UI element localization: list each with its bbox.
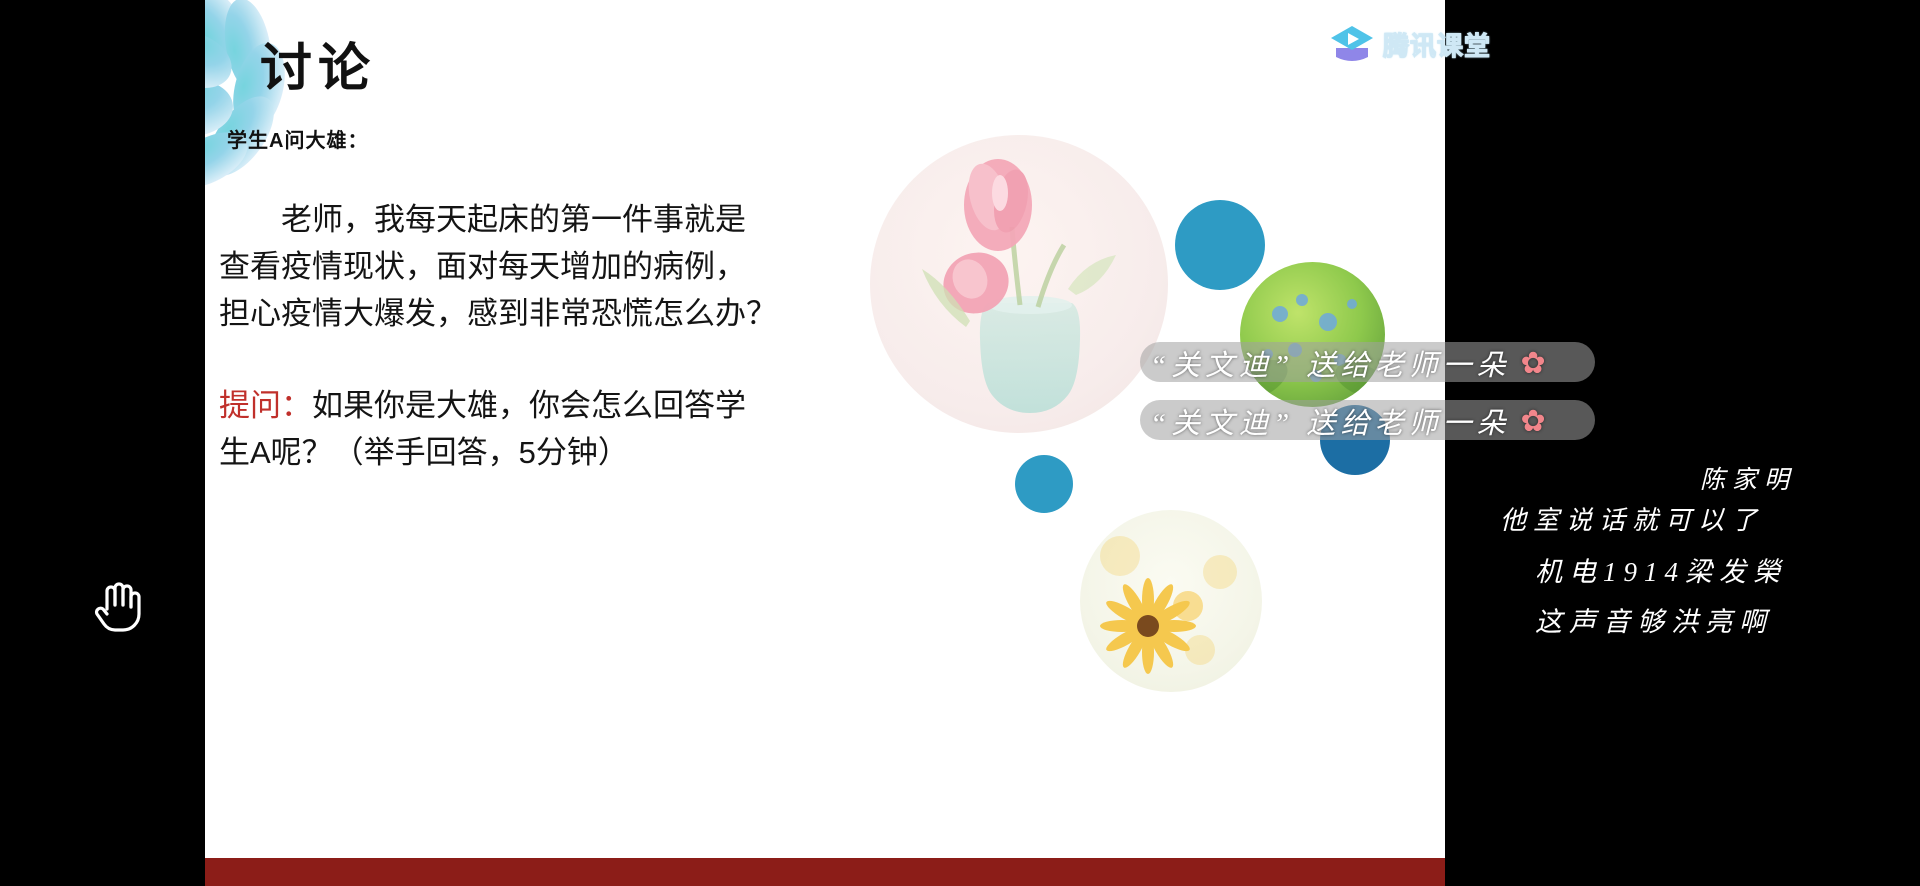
slide-body-text: 老师，我每天起床的第一件事就是 查看疫情现状，面对每天增加的病例， 担心疫情大爆… (219, 196, 909, 337)
accent-dot-small (1015, 455, 1073, 513)
body-line-2: 查看疫情现状，面对每天增加的病例， (219, 249, 746, 284)
green-leaves-photo-circle (1240, 262, 1385, 407)
question-label: 提问： (219, 388, 312, 423)
flower-icon: ✿ (1521, 346, 1546, 381)
question-line-1: 如果你是大雄，你会怎么回答学 (312, 388, 746, 423)
tencent-classroom-logo: 腾讯课堂 (1330, 24, 1491, 64)
handwriting-annotation: 这声音够洪亮啊 (1535, 600, 1773, 639)
danmaku-text: “关文迪” 送给老师一朵 (1150, 400, 1511, 442)
slide-question-block: 提问：如果你是大雄，你会怎么回答学 生A呢？（举手回答，5分钟） (219, 382, 899, 476)
danmaku-text: “关文迪” 送给老师一朵 (1150, 342, 1511, 384)
flower-icon: ✿ (1521, 404, 1546, 439)
question-line-2: 生A呢？（举手回答，5分钟） (219, 435, 629, 470)
body-line-1: 老师，我每天起床的第一件事就是 (281, 202, 746, 237)
slide-bottom-accent-bar (205, 858, 1445, 886)
tulip-photo-circle (870, 135, 1168, 433)
logo-text: 腾讯课堂 (1383, 26, 1491, 63)
slide-subtitle: 学生A问大雄： (227, 124, 368, 153)
body-line-3: 担心疫情大爆发，感到非常恐慌怎么办？ (219, 296, 777, 331)
danmaku-message: “关文迪” 送给老师一朵 ✿ (1150, 342, 1546, 384)
slide-title: 讨论 (260, 26, 376, 101)
danmaku-message: “关文迪” 送给老师一朵 ✿ (1150, 400, 1546, 442)
handwriting-annotation: 陈家明 (1700, 460, 1796, 496)
video-player-viewport: 讨论 学生A问大雄： 老师，我每天起床的第一件事就是 查看疫情现状，面对每天增加… (0, 0, 1920, 886)
graduation-cap-play-icon (1330, 24, 1374, 64)
handwriting-annotation: 机电1914梁发榮 (1535, 550, 1787, 589)
handwriting-annotation: 他室说话就可以了 (1500, 500, 1764, 537)
daisy-photo-circle (1080, 510, 1262, 692)
accent-dot-large (1175, 200, 1265, 290)
pan-hand-icon[interactable] (92, 576, 144, 634)
